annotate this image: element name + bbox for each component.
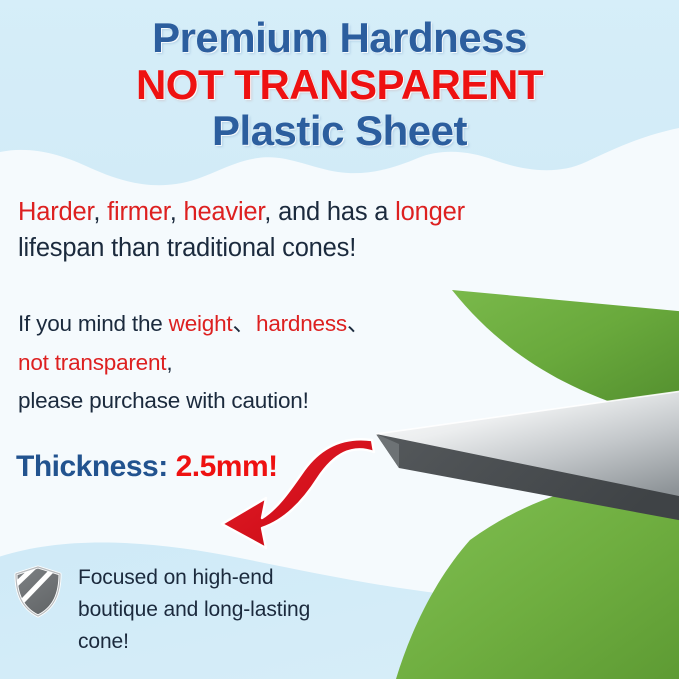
warn-separator-1: 、: [232, 311, 256, 336]
headline-block: Premium Hardness NOT TRANSPARENT Plastic…: [0, 16, 679, 154]
warn-prefix: If you mind the: [18, 311, 169, 336]
product-infographic: Premium Hardness NOT TRANSPARENT Plastic…: [0, 0, 679, 679]
warn-word-not-transparent: not transparent: [18, 350, 166, 375]
headline-line-2: NOT TRANSPARENT: [0, 63, 679, 108]
lead-word-harder: Harder: [18, 198, 93, 226]
lead-word-firmer: firmer: [107, 198, 170, 226]
headline-line-3: Plastic Sheet: [0, 109, 679, 154]
warn-word-weight: weight: [169, 311, 233, 336]
quality-badge-text: Focused on high-end boutique and long-la…: [78, 562, 310, 658]
lead-paragraph: Harder, firmer, heavier, and has a longe…: [18, 194, 618, 266]
warn-line-3: please purchase with caution!: [18, 388, 309, 413]
thickness-value: 2.5mm!: [176, 450, 278, 483]
warn-word-hardness: hardness: [256, 311, 347, 336]
shield-stripes-icon: [12, 564, 64, 620]
lead-comma-1: ,: [93, 198, 107, 226]
badge-line-2: boutique and long-lasting: [78, 598, 310, 621]
quality-badge: Focused on high-end boutique and long-la…: [12, 562, 310, 658]
lead-mid-text: , and has a: [264, 198, 395, 226]
lead-word-longer: longer: [395, 198, 465, 226]
warning-paragraph: If you mind the weight、hardness、 not tra…: [18, 305, 448, 421]
badge-line-3: cone!: [78, 630, 129, 653]
lead-word-heavier: heavier: [183, 198, 264, 226]
thickness-callout: Thickness: 2.5mm!: [16, 450, 278, 484]
lead-comma-2: ,: [170, 198, 184, 226]
thickness-label: Thickness:: [16, 450, 168, 483]
headline-line-1: Premium Hardness: [0, 16, 679, 61]
lead-line-2: lifespan than traditional cones!: [18, 234, 356, 262]
warn-comma: ,: [166, 350, 172, 375]
badge-line-1: Focused on high-end: [78, 566, 273, 589]
warn-separator-2: 、: [347, 311, 371, 336]
